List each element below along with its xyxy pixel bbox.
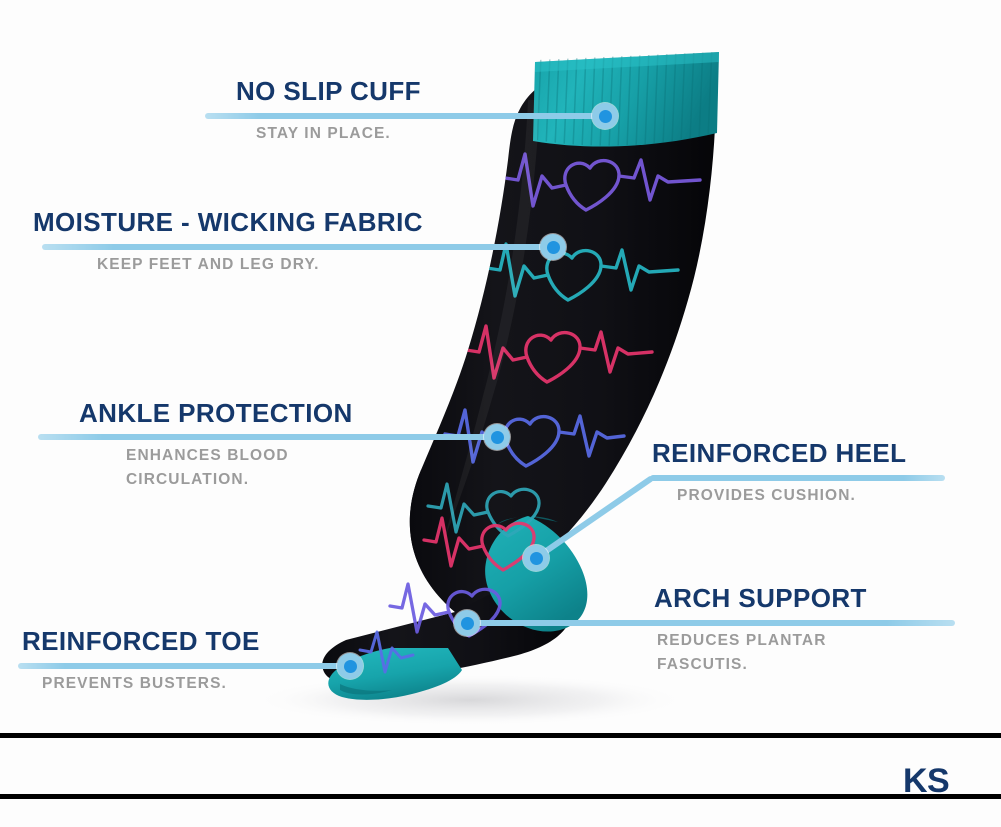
marker-dot-arch-support[interactable] <box>454 610 480 636</box>
callout-title-arch-support: ARCH SUPPORT <box>654 585 867 612</box>
callout-subtitle-arch-support-line2: FASCUTIS. <box>657 653 867 677</box>
callout-reinforced-toe: REINFORCED TOE PREVENTS BUSTERS. <box>22 628 260 696</box>
heel-seam <box>498 516 558 524</box>
callout-subtitle-reinforced-toe: PREVENTS BUSTERS. <box>42 672 260 696</box>
shin-highlight <box>444 100 540 540</box>
callout-title-no-slip-cuff: NO SLIP CUFF <box>236 78 421 105</box>
callout-subtitle-ankle-protection-line2: CIRCULATION. <box>126 468 353 492</box>
infographic-canvas: NO SLIP CUFF STAY IN PLACE. MOISTURE - W… <box>0 0 1001 827</box>
callout-arch-support: ARCH SUPPORT REDUCES PLANTAR FASCUTIS. <box>654 585 867 677</box>
footer-rule-top <box>0 733 1001 738</box>
marker-dot-reinforced-heel[interactable] <box>523 545 549 571</box>
callout-title-reinforced-heel: REINFORCED HEEL <box>652 440 906 467</box>
floor-shadow <box>250 674 690 726</box>
callout-title-ankle-protection: ANKLE PROTECTION <box>79 400 353 427</box>
callout-subtitle-reinforced-heel: PROVIDES CUSHION. <box>677 484 906 508</box>
callout-subtitle-ankle-protection-line1: ENHANCES BLOOD <box>126 444 353 468</box>
footer-rule-bottom <box>0 794 1001 799</box>
marker-dot-reinforced-toe[interactable] <box>337 653 363 679</box>
marker-dot-moisture-wicking[interactable] <box>540 234 566 260</box>
callout-subtitle-arch-support-line1: REDUCES PLANTAR <box>657 629 867 653</box>
marker-dot-ankle-protection[interactable] <box>484 424 510 450</box>
callout-no-slip-cuff: NO SLIP CUFF STAY IN PLACE. <box>236 78 421 146</box>
callout-subtitle-moisture-wicking-fabric: KEEP FEET AND LEG DRY. <box>97 253 423 277</box>
marker-dot-no-slip-cuff[interactable] <box>592 103 618 129</box>
sock-leg <box>410 88 716 612</box>
callout-title-reinforced-toe: REINFORCED TOE <box>22 628 260 655</box>
leader-line-reinforced-heel-diagonal <box>534 475 654 561</box>
sock-cuff <box>533 46 719 150</box>
heartbeat-pattern-foot <box>360 518 534 672</box>
callout-ankle-protection: ANKLE PROTECTION ENHANCES BLOOD CIRCULAT… <box>79 400 353 492</box>
callout-moisture-wicking-fabric: MOISTURE - WICKING FABRIC KEEP FEET AND … <box>33 209 423 277</box>
callout-subtitle-no-slip-cuff: STAY IN PLACE. <box>256 122 421 146</box>
toe-seam <box>340 684 392 695</box>
callout-reinforced-heel: REINFORCED HEEL PROVIDES CUSHION. <box>652 440 906 508</box>
callout-title-moisture-wicking-fabric: MOISTURE - WICKING FABRIC <box>33 209 423 236</box>
